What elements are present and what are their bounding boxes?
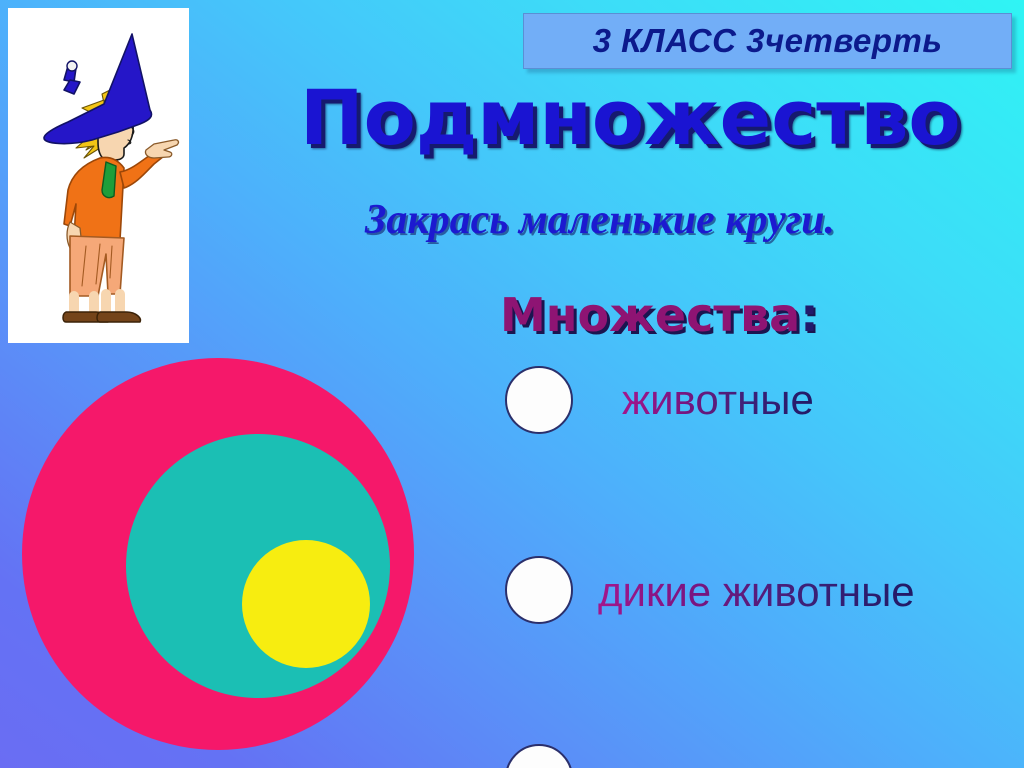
sets-heading-word: Множества <box>500 288 800 342</box>
shoe-right <box>97 312 140 322</box>
trousers-shape <box>70 236 124 296</box>
nested-circles-diagram <box>18 358 438 758</box>
set-circle-tiger[interactable] <box>505 744 573 768</box>
sets-list: животные дикие животные тигр <box>500 360 1020 648</box>
sets-heading-colon: : <box>800 288 818 342</box>
header-badge-text: 3 КЛАСС 3четверть <box>593 22 943 60</box>
list-item: дикие животные <box>500 456 1020 552</box>
set-label-tiger: тигр <box>602 762 683 768</box>
list-item: тигр <box>500 552 1020 648</box>
set-label-animals: животные <box>622 376 814 424</box>
nested-circles-svg <box>18 358 438 758</box>
list-item: животные <box>500 360 1020 456</box>
header-badge: 3 КЛАСС 3четверть <box>523 13 1012 69</box>
wizard-boy-illustration <box>8 8 189 343</box>
instruction-text: Закрась маленькие круги. <box>290 196 910 244</box>
page-title: Подмножество <box>300 80 960 156</box>
set-circle-animals[interactable] <box>505 366 573 434</box>
illustration-panel <box>8 8 189 343</box>
sets-heading: Множества: <box>500 288 819 342</box>
slide-canvas: 3 КЛАСС 3четверть Подмножество Закрась м… <box>0 0 1024 768</box>
inner-ring-tiger <box>242 540 370 668</box>
